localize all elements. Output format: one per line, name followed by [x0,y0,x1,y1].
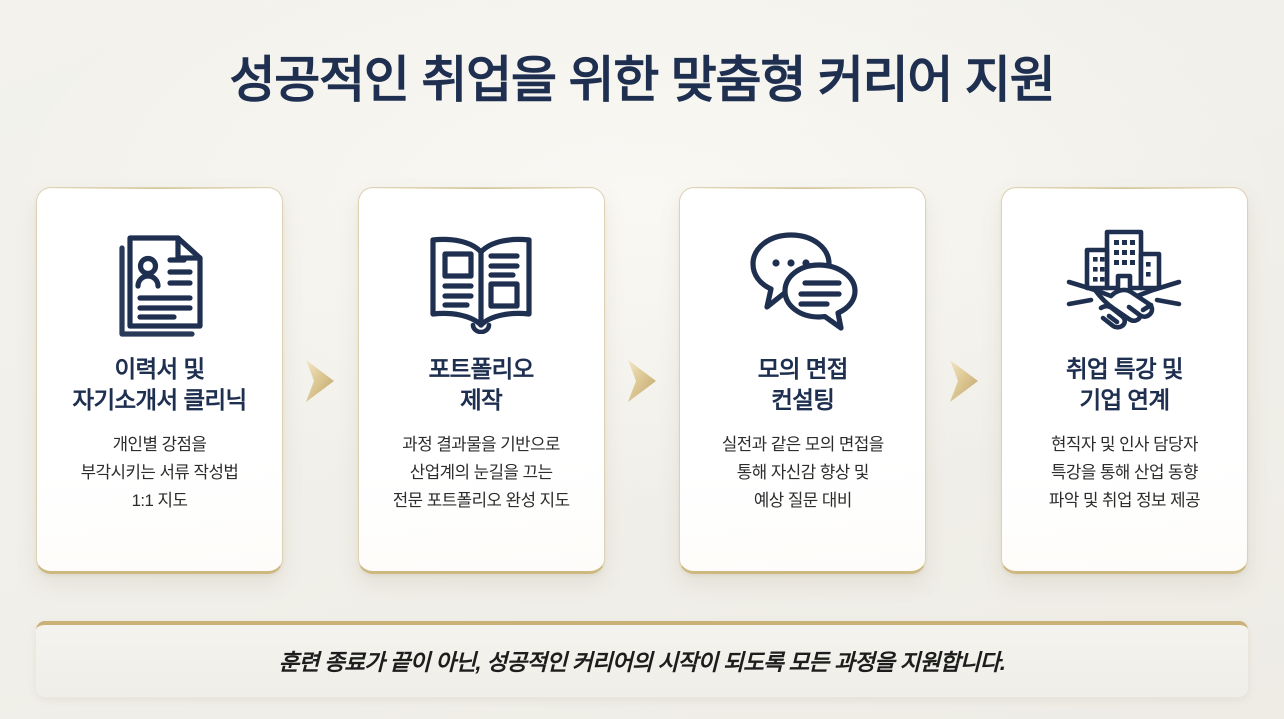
handshake-buildings-icon [1058,214,1190,346]
page-title: 성공적인 취업을 위한 맞춤형 커리어 지원 [0,52,1284,110]
chevron-right-arrow [610,187,674,574]
card-resume-clinic[interactable]: 이력서 및 자기소개서 클리닉 개인별 강점을 부각시키는 서류 작성법 1:1… [36,187,283,574]
card-job-lecture-linkage[interactable]: 취업 특강 및 기업 연계 현직자 및 인사 담당자 특강을 통해 산업 동향 … [1001,187,1248,574]
card-description: 실전과 같은 모의 면접을 통해 자신감 향상 및 예상 질문 대비 [722,431,884,516]
card-title: 취업 특강 및 기업 연계 [1066,354,1183,416]
footer-message: 훈련 종료가 끝이 아닌, 성공적인 커리어의 시작이 되도록 모든 과정을 지… [279,645,1006,677]
card-description: 현직자 및 인사 담당자 특강을 통해 산업 동향 파악 및 취업 정보 제공 [1049,431,1200,516]
chevron-right-arrow [932,187,996,574]
card-row: 이력서 및 자기소개서 클리닉 개인별 강점을 부각시키는 서류 작성법 1:1… [36,187,1248,574]
speech-bubbles-icon [737,214,869,346]
chevron-right-arrow [288,187,352,574]
resume-document-icon [94,214,226,346]
card-title: 포트폴리오 제작 [429,354,534,416]
open-book-icon [415,214,547,346]
card-title: 이력서 및 자기소개서 클리닉 [72,354,246,416]
card-description: 과정 결과물을 기반으로 산업계의 눈길을 끄는 전문 포트폴리오 완성 지도 [393,431,570,516]
card-portfolio[interactable]: 포트폴리오 제작 과정 결과물을 기반으로 산업계의 눈길을 끄는 전문 포트폴… [358,187,605,574]
card-title: 모의 면접 컨설팅 [758,354,848,416]
card-description: 개인별 강점을 부각시키는 서류 작성법 1:1 지도 [81,431,239,516]
infographic-page: 성공적인 취업을 위한 맞춤형 커리어 지원 [0,0,1284,719]
card-mock-interview[interactable]: 모의 면접 컨설팅 실전과 같은 모의 면접을 통해 자신감 향상 및 예상 질… [679,187,926,574]
footer-banner: 훈련 종료가 끝이 아닌, 성공적인 커리어의 시작이 되도록 모든 과정을 지… [36,621,1248,697]
